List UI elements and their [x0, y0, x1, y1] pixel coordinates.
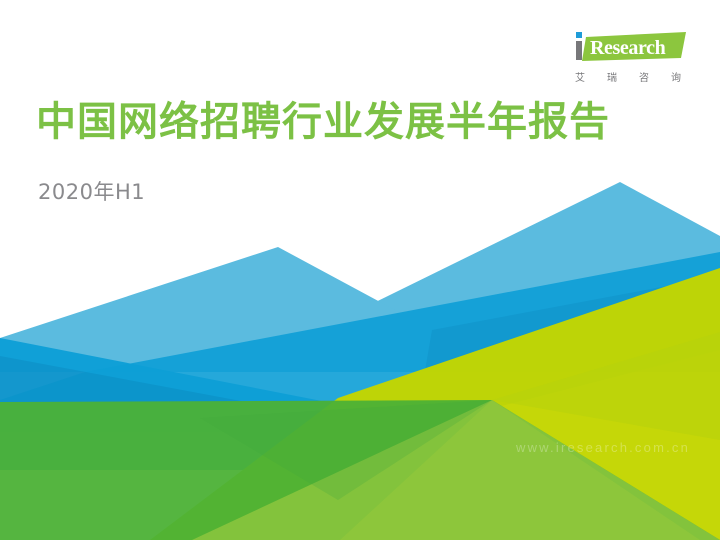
report-cover-page: www.iresearch.com.cn Research 艾 瑞 咨 询 中国…	[0, 0, 720, 540]
logo-cn-char-2: 瑞	[607, 69, 617, 84]
iresearch-logo-mark: Research	[568, 30, 688, 64]
logo-cn-char-3: 咨	[639, 69, 649, 84]
logo-i-stem	[576, 41, 582, 60]
logo-i-dot	[576, 32, 582, 38]
site-watermark: www.iresearch.com.cn	[516, 440, 690, 455]
iresearch-logo: Research 艾 瑞 咨 询	[568, 30, 688, 84]
logo-cn-char-1: 艾	[575, 69, 585, 84]
report-title: 中国网络招聘行业发展半年报告	[36, 100, 610, 145]
logo-wordmark: Research	[590, 37, 666, 59]
logo-chinese-name: 艾 瑞 咨 询	[575, 69, 681, 84]
report-subtitle: 2020年H1	[38, 180, 145, 205]
logo-cn-char-4: 询	[671, 69, 681, 84]
